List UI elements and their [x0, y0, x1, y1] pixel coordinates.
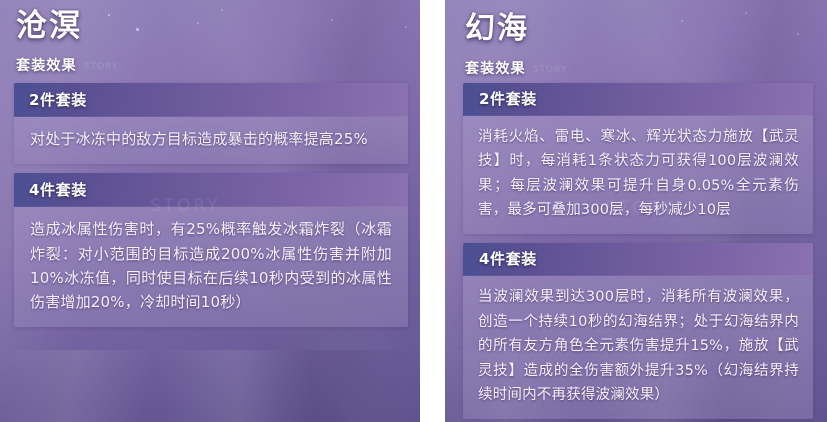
- effect-body-2pc: 对处于冰冻中的敌方目标造成暴击的概率提高25%: [14, 117, 408, 164]
- set-effects-screenshot: STORY 沧溟 套装效果 STORY 2件套装 对处于冰冻中的敌方目标造成暴击…: [0, 0, 827, 422]
- section-label: 套装效果: [465, 62, 526, 76]
- effect-body-4pc: 造成冰属性伤害时，有25%概率触发冰霜炸裂（冰霜炸裂：对小范围的目标造成200%…: [14, 207, 408, 327]
- effect-block-4pc[interactable]: 4件套装 当波澜效果到达300层时，消耗所有波澜效果，创造一个持续10秒的幻海结…: [463, 243, 813, 419]
- set-panel-canming: STORY 沧溟 套装效果 STORY 2件套装 对处于冰冻中的敌方目标造成暴击…: [0, 0, 420, 422]
- effect-head-label: 2件套装: [29, 93, 87, 108]
- effect-head-2pc: 2件套装: [463, 83, 813, 116]
- set-panel-huanhai: STORY 幻海 套装效果 STORY 2件套装 消耗火焰、雷电、寒冰、辉光状态…: [445, 0, 827, 422]
- effect-head-label: 4件套装: [479, 252, 537, 267]
- effect-head-label: 2件套装: [479, 92, 537, 107]
- effect-head-label: 4件套装: [29, 183, 87, 198]
- set-title: 沧溟: [16, 11, 408, 42]
- effect-head-4pc: 4件套装: [14, 173, 408, 207]
- panel-gap: [420, 0, 445, 422]
- section-label-ghost: STORY: [533, 66, 567, 76]
- section-label: 套装效果: [16, 59, 77, 73]
- effect-block-4pc[interactable]: 4件套装 造成冰属性伤害时，有25%概率触发冰霜炸裂（冰霜炸裂：对小范围的目标造…: [14, 173, 408, 327]
- set-title: 幻海: [465, 14, 813, 44]
- section-label-row: 套装效果 STORY: [16, 59, 408, 73]
- effect-block-2pc[interactable]: 2件套装 对处于冰冻中的敌方目标造成暴击的概率提高25%: [14, 83, 408, 164]
- section-label-ghost: STORY: [84, 63, 118, 73]
- effect-body-4pc: 当波澜效果到达300层时，消耗所有波澜效果，创造一个持续10秒的幻海结界；处于幻…: [463, 276, 813, 419]
- effect-head-4pc: 4件套装: [463, 243, 813, 276]
- section-label-row: 套装效果 STORY: [465, 62, 813, 76]
- effect-block-2pc[interactable]: 2件套装 消耗火焰、雷电、寒冰、辉光状态力施放【武灵技】时，每消耗1条状态力可获…: [463, 83, 813, 234]
- effect-head-2pc: 2件套装: [14, 83, 408, 117]
- effect-body-2pc: 消耗火焰、雷电、寒冰、辉光状态力施放【武灵技】时，每消耗1条状态力可获得100层…: [463, 116, 813, 234]
